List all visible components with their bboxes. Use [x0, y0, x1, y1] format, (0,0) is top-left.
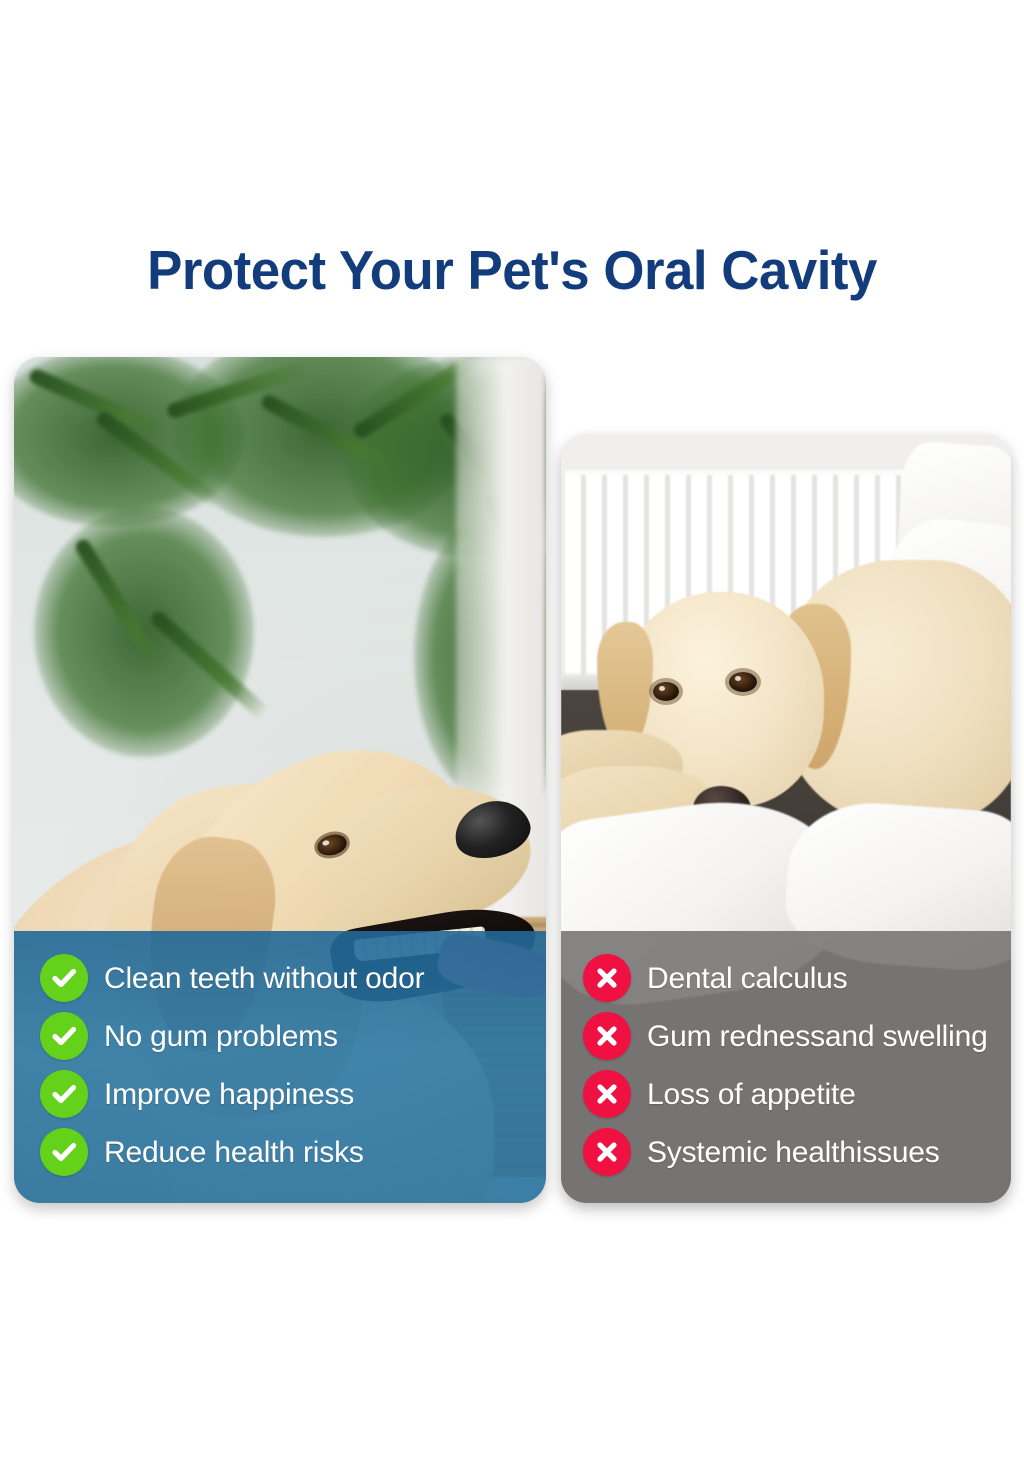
x-icon [583, 1128, 631, 1176]
check-icon [40, 1128, 88, 1176]
dog-eye [729, 672, 757, 692]
benefit-row: Improve happiness [14, 1065, 546, 1123]
good-card: Clean teeth without odor No gum problems… [14, 357, 546, 1203]
benefit-row: Reduce health risks [14, 1123, 546, 1181]
benefit-row: No gum problems [14, 1007, 546, 1065]
problem-row: Systemic healthissues [561, 1123, 1011, 1181]
benefit-label: Improve happiness [104, 1078, 354, 1111]
check-icon [40, 1070, 88, 1118]
benefits-panel: Clean teeth without odor No gum problems… [14, 931, 546, 1203]
x-icon [583, 1070, 631, 1118]
check-icon [40, 1012, 88, 1060]
x-icon [583, 954, 631, 1002]
problem-label: Loss of appetite [647, 1078, 856, 1111]
benefit-label: No gum problems [104, 1020, 338, 1053]
problem-row: Gum rednessand swelling [561, 1007, 1011, 1065]
check-icon [40, 954, 88, 1002]
problems-panel: Dental calculus Gum rednessand swelling … [561, 931, 1011, 1203]
problem-row: Loss of appetite [561, 1065, 1011, 1123]
comparison-stage: Clean teeth without odor No gum problems… [0, 0, 1024, 1481]
benefit-label: Reduce health risks [104, 1136, 364, 1169]
problem-label: Dental calculus [647, 962, 847, 995]
problem-label: Systemic healthissues [647, 1136, 940, 1169]
dog-eye [653, 682, 679, 701]
x-icon [583, 1012, 631, 1060]
problem-row: Dental calculus [561, 949, 1011, 1007]
benefit-label: Clean teeth without odor [104, 962, 424, 995]
benefit-row: Clean teeth without odor [14, 949, 546, 1007]
problems-card: Dental calculus Gum rednessand swelling … [561, 434, 1011, 1203]
problem-label: Gum rednessand swelling [647, 1020, 988, 1053]
